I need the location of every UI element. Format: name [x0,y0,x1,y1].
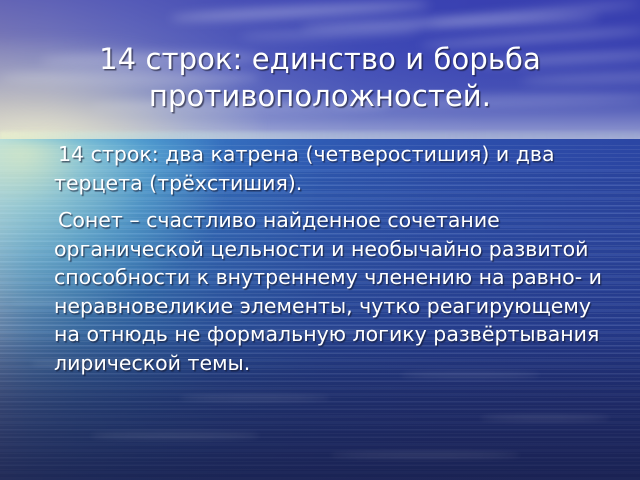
body-paragraph-1: 14 строк: два катрена (четверостишия) и … [54,140,620,197]
slide-title: 14 строк: единство и борьба противополож… [20,41,620,115]
body-paragraph-2: Сонет – счастливо найденное сочетание ор… [54,206,620,377]
slide-body: 14 строк: два катрена (четверостишия) и … [54,140,620,377]
slide-content: 14 строк: единство и борьба противополож… [0,0,640,480]
presentation-slide: 14 строк: единство и борьба противополож… [0,0,640,480]
